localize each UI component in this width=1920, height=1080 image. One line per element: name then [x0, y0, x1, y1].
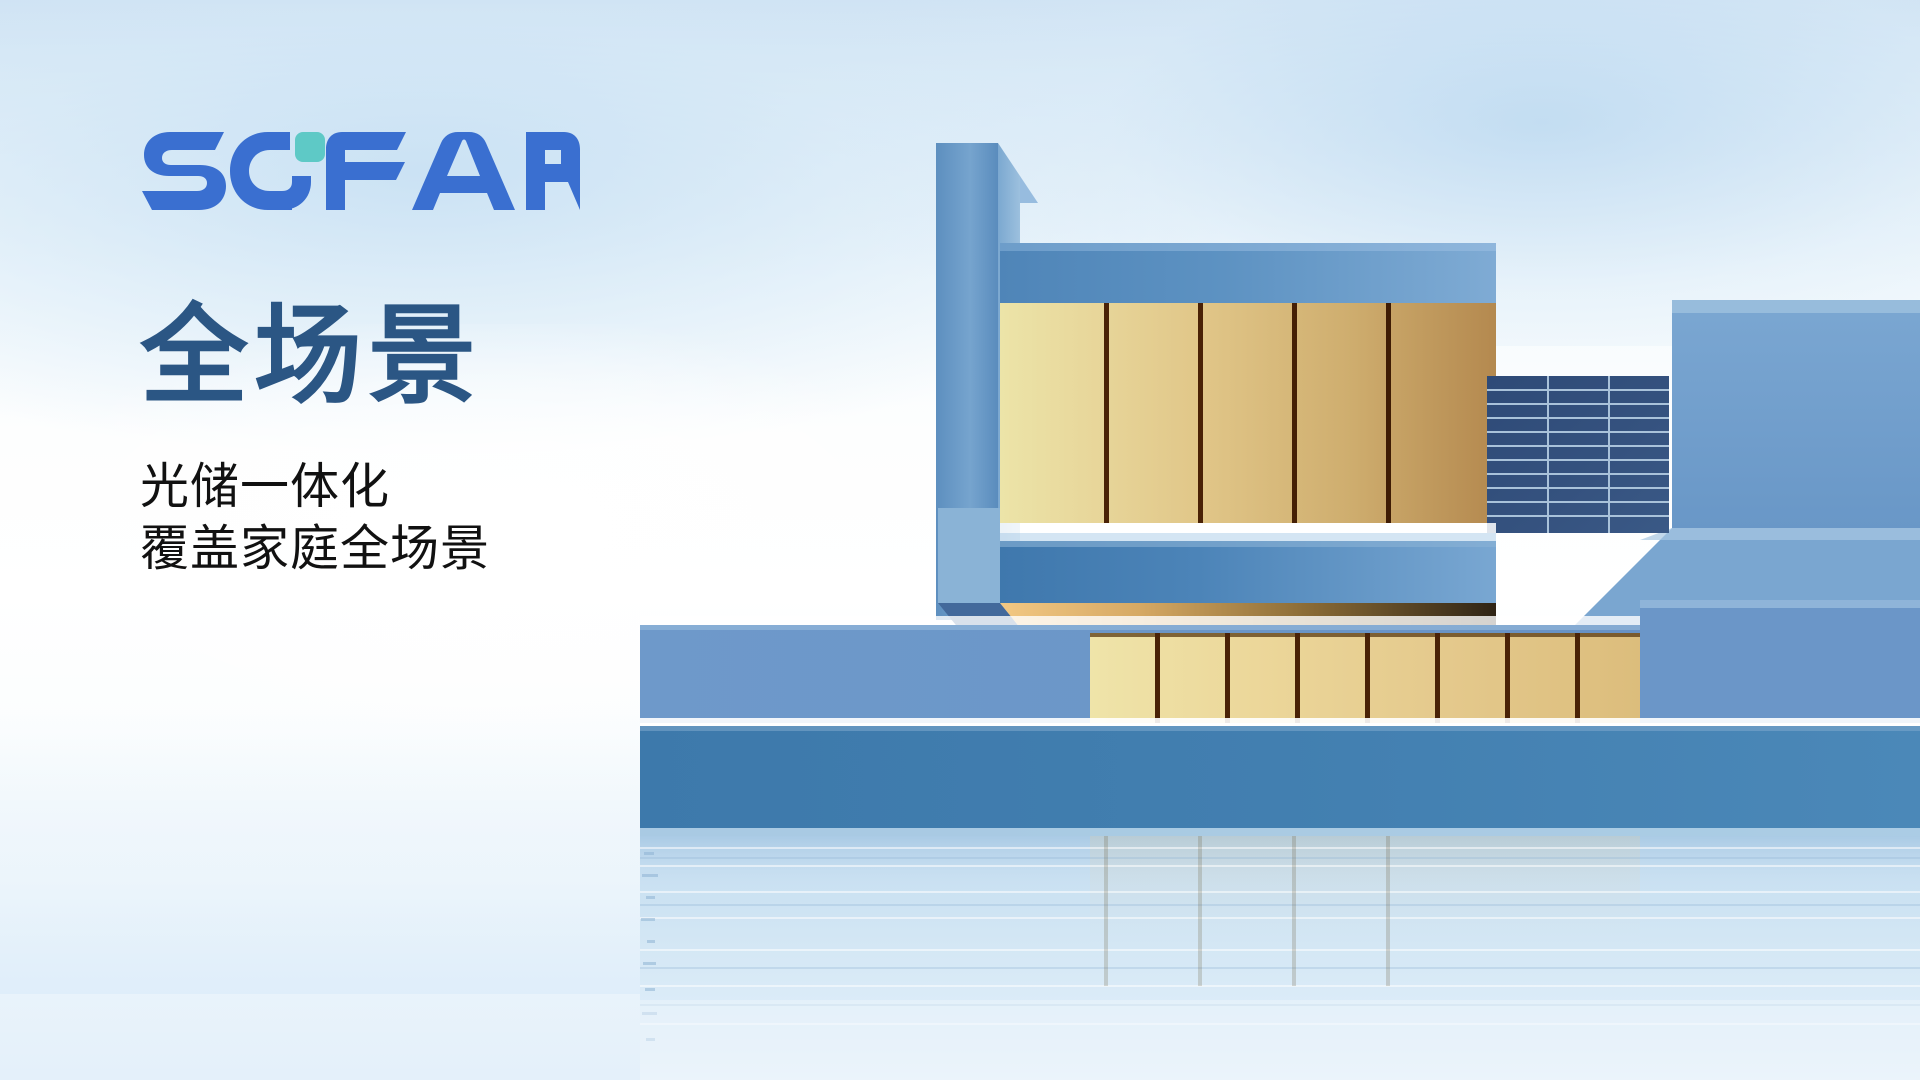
sky-haze-bottom-left: [0, 713, 806, 994]
subtitle-line-1: 光储一体化: [140, 456, 700, 518]
subtitle-line-2: 覆盖家庭全场景: [140, 518, 700, 580]
hero-banner: 全场景 光储一体化 覆盖家庭全场景: [0, 0, 1920, 1080]
teal-accent-dot-icon: [295, 132, 325, 162]
sofar-wordmark-glyphs: [142, 132, 580, 210]
sofar-logo[interactable]: [140, 120, 580, 216]
page-title: 全场景: [140, 302, 700, 410]
hero-text-block: 全场景 光储一体化 覆盖家庭全场景: [140, 120, 700, 580]
sky-cloud-wash-right: [845, 0, 1920, 346]
